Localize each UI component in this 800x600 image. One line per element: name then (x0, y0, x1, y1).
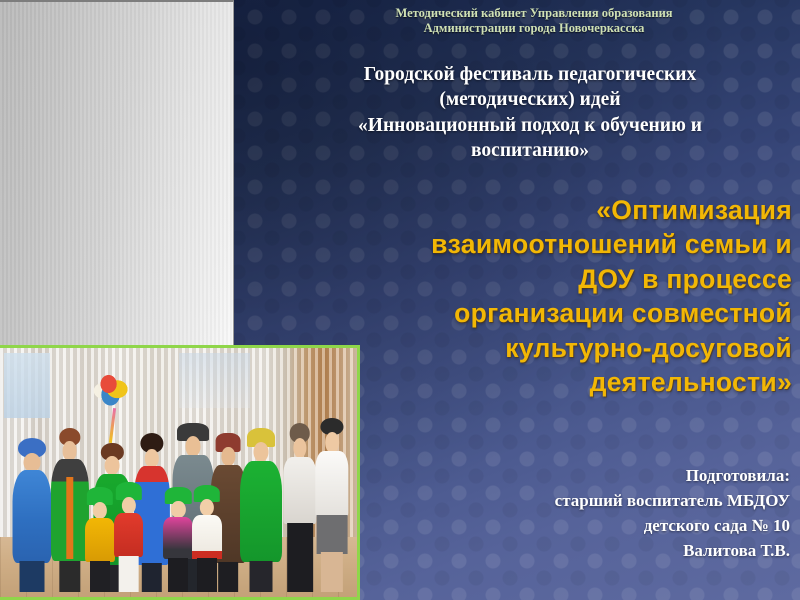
author-line-1: Подготовила: (400, 464, 790, 489)
left-decorative-panel (0, 0, 234, 346)
festival-line-1: Городской фестиваль педагогических (272, 62, 788, 87)
photo-child-legs (197, 558, 217, 592)
photo-child-legs (118, 556, 139, 592)
festival-line-3: «Инновационный подход к обучению и (272, 113, 788, 138)
header-organization: Методический кабинет Управления образова… (284, 6, 784, 36)
page-title: «Оптимизация взаимоотношений семьи и ДОУ… (236, 193, 792, 400)
photo-person-head (105, 456, 120, 475)
header-line-1: Методический кабинет Управления образова… (284, 6, 784, 21)
photo-child-legs (168, 558, 188, 593)
photo-child-head (121, 497, 135, 515)
festival-line-2: (методических) идей (272, 87, 788, 112)
photo-child-head (93, 502, 107, 519)
photo-person-legs (287, 523, 313, 592)
header-line-2: Администрации города Новочеркасска (284, 21, 784, 36)
photo-person-head (293, 438, 306, 458)
main-title-line-2: взаимоотношений семьи и (236, 227, 792, 261)
photo-person-legs (20, 561, 45, 592)
author-line-2: старший воспитатель МБДОУ (400, 489, 790, 514)
photo-person-head (62, 441, 77, 461)
photo-child-legs (90, 561, 110, 592)
photo-child-4 (189, 485, 225, 592)
photo-rooster-decoration (93, 370, 132, 410)
photo-person-legs (321, 552, 343, 592)
photo-person-skirt (317, 515, 348, 553)
main-title-line-6: деятельности» (236, 365, 792, 399)
photo-child-2 (111, 482, 147, 592)
photo-person-head (253, 442, 268, 462)
presentation-slide: Методический кабинет Управления образова… (0, 0, 800, 600)
main-title-line-3: ДОУ в процессе (236, 262, 792, 296)
photo-child-head (200, 499, 214, 516)
festival-line-4: воспитанию» (272, 138, 788, 163)
photo-person-head (325, 432, 339, 453)
photo-person-9 (311, 418, 354, 592)
photo-window-left (4, 353, 50, 418)
festival-title: Городской фестиваль педагогических (мето… (272, 62, 788, 163)
photo-person-legs (249, 561, 272, 592)
photo-person-body (240, 461, 282, 563)
main-title-line-5: культурно-досуговой (236, 331, 792, 365)
photo-child-body (114, 513, 144, 557)
photo-person-head (185, 436, 200, 456)
photo-person-head (24, 453, 41, 472)
photo-person-head (145, 449, 159, 468)
photo-person-head (222, 447, 235, 466)
photo-child-head (171, 501, 185, 518)
main-title-line-4: организации совместной (236, 296, 792, 330)
photo-person-legs (59, 561, 80, 592)
author-block: Подготовила: старший воспитатель МБДОУ д… (400, 464, 790, 564)
photo-person-body (315, 451, 348, 517)
photo-person-trim (66, 477, 73, 559)
author-line-4: Валитова Т.В. (400, 539, 790, 564)
main-title-line-1: «Оптимизация (236, 193, 792, 227)
author-line-3: детского сада № 10 (400, 514, 790, 539)
left-panel-sheen (0, 2, 233, 346)
